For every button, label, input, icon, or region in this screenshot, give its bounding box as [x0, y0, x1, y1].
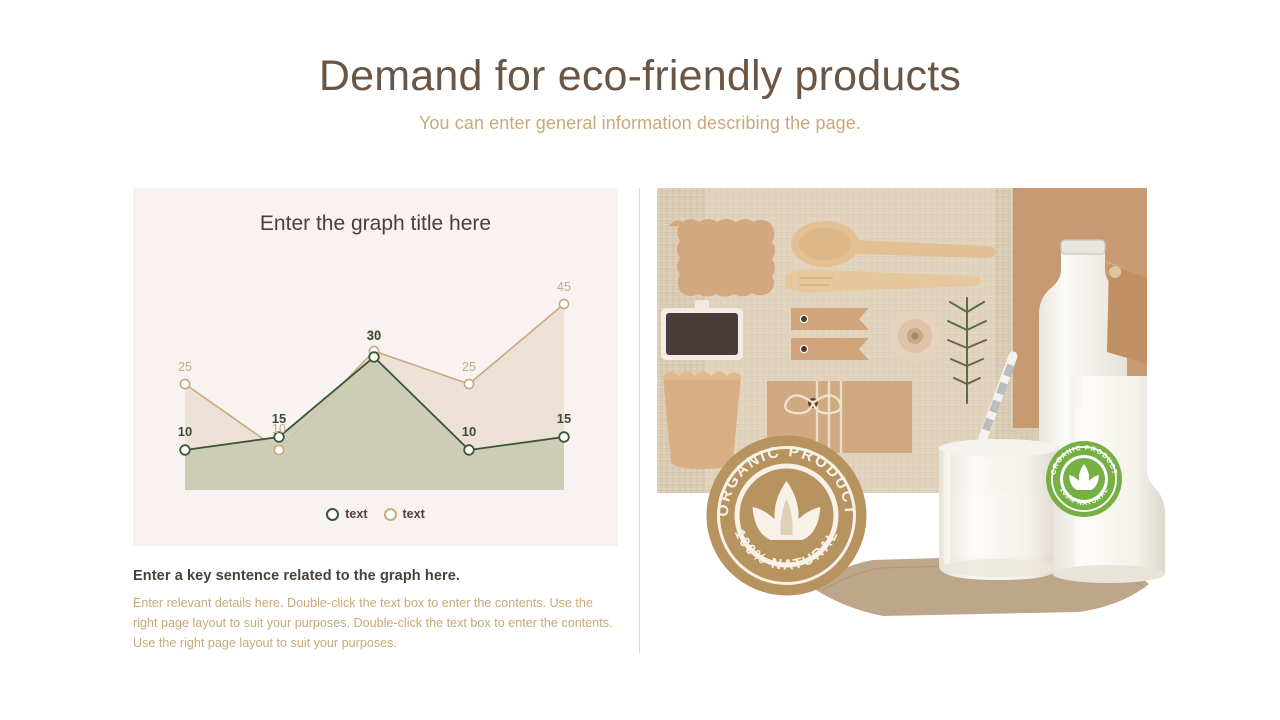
page-title: Demand for eco-friendly products [0, 52, 1280, 100]
chart-panel: Enter the graph title here [133, 188, 618, 546]
series-a-label-3: 10 [462, 424, 476, 439]
left-column: Enter the graph title here [133, 188, 618, 654]
key-sentence: Enter a key sentence related to the grap… [133, 568, 618, 584]
chalkboard-tag [661, 300, 743, 360]
series-b-label-3: 25 [462, 360, 476, 374]
bottle-hang-tag [1107, 264, 1147, 364]
slide-header: Demand for eco-friendly products You can… [0, 52, 1280, 134]
legend-label-series-a: text [345, 507, 367, 521]
chart-legend: text text [133, 507, 618, 521]
page-subtitle: You can enter general information descri… [0, 113, 1280, 134]
right-column: ORGANIC PRODUCT 100% NATURAL ORGANIC PRO… [657, 188, 1217, 653]
tag-eyelet-icon [1109, 266, 1121, 278]
series-b-label-4: 45 [557, 280, 571, 294]
area-chart: 25 10 33 25 45 10 15 30 10 15 [133, 188, 618, 546]
legend-label-series-b: text [403, 507, 425, 521]
series-a-label-2: 30 [367, 328, 381, 343]
series-a-label-4: 15 [557, 411, 571, 426]
dried-flower [890, 311, 940, 361]
body-copy: Enter relevant details here. Double-clic… [133, 594, 615, 654]
series-a-label-0: 10 [178, 424, 192, 439]
circle-marker-icon [326, 508, 339, 521]
kraft-label [669, 219, 775, 297]
legend-item-series-a[interactable]: text [326, 507, 367, 521]
circle-marker-icon [384, 508, 397, 521]
series-b-label-0: 25 [178, 360, 192, 374]
column-divider [639, 188, 640, 653]
organic-product-badge-large: ORGANIC PRODUCT 100% NATURAL [704, 433, 869, 598]
legend-item-series-b[interactable]: text [384, 507, 425, 521]
organic-product-badge-small: ORGANIC PRODUCT 100% NATURAL [1045, 440, 1123, 518]
series-a-label-1: 15 [272, 411, 286, 426]
